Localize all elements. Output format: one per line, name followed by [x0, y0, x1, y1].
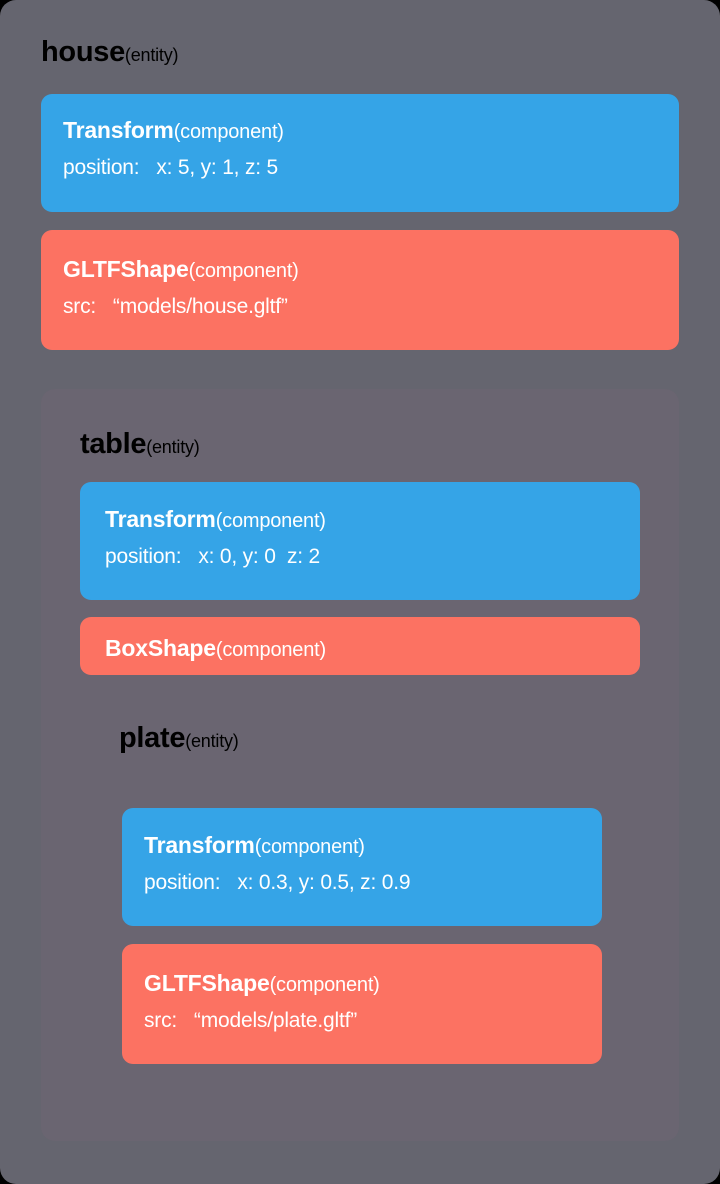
component-header-table-boxshape: BoxShape(component): [105, 637, 326, 660]
component-name-table-boxshape: BoxShape: [105, 635, 216, 661]
entity-kind-house: (entity): [125, 45, 178, 65]
component-property-house-gltfshape-src: src: “models/house.gltf”: [63, 296, 288, 317]
component-header-table-transform: Transform(component): [105, 508, 326, 531]
component-card-plate-gltfshape[interactable]: GLTFShape(component) src: “models/plate.…: [122, 944, 602, 1064]
component-name-house-transform: Transform: [63, 117, 174, 143]
component-kind-table-boxshape: (component): [216, 639, 326, 661]
entity-kind-table: (entity): [146, 437, 199, 457]
component-kind-plate-transform: (component): [255, 836, 365, 858]
component-kind-house-gltfshape: (component): [189, 260, 299, 282]
entity-block-table: table(entity) Transform(component) posit…: [41, 389, 679, 1141]
component-name-house-gltfshape: GLTFShape: [63, 256, 189, 282]
entity-title-table: table(entity): [80, 430, 200, 459]
entity-name-house: house: [41, 36, 125, 68]
component-name-table-transform: Transform: [105, 506, 216, 532]
component-property-plate-gltfshape-src: src: “models/plate.gltf”: [144, 1010, 357, 1031]
entity-name-plate: plate: [119, 722, 185, 754]
component-header-house-gltfshape: GLTFShape(component): [63, 258, 299, 281]
component-property-house-transform-position: position: x: 5, y: 1, z: 5: [63, 157, 278, 178]
entity-name-table: table: [80, 428, 146, 460]
component-card-house-gltfshape[interactable]: GLTFShape(component) src: “models/house.…: [41, 230, 679, 350]
entity-kind-plate: (entity): [185, 731, 238, 751]
component-card-table-boxshape[interactable]: BoxShape(component): [80, 617, 640, 675]
component-name-plate-transform: Transform: [144, 832, 255, 858]
component-card-house-transform[interactable]: Transform(component) position: x: 5, y: …: [41, 94, 679, 212]
component-kind-table-transform: (component): [216, 510, 326, 532]
component-property-plate-transform-position: position: x: 0.3, y: 0.5, z: 0.9: [144, 872, 410, 893]
component-kind-plate-gltfshape: (component): [270, 974, 380, 996]
component-name-plate-gltfshape: GLTFShape: [144, 970, 270, 996]
component-property-table-transform-position: position: x: 0, y: 0 z: 2: [105, 546, 320, 567]
component-header-plate-gltfshape: GLTFShape(component): [144, 972, 380, 995]
entity-block-plate: plate(entity) Transform(component) posit…: [80, 708, 679, 1102]
component-kind-house-transform: (component): [174, 121, 284, 143]
entity-title-house: house(entity): [41, 38, 178, 67]
diagram-canvas: house(entity) Transform(component) posit…: [0, 0, 720, 1184]
component-header-plate-transform: Transform(component): [144, 834, 365, 857]
component-card-table-transform[interactable]: Transform(component) position: x: 0, y: …: [80, 482, 640, 600]
entity-title-plate: plate(entity): [119, 724, 239, 753]
component-header-house-transform: Transform(component): [63, 119, 284, 142]
component-card-plate-transform[interactable]: Transform(component) position: x: 0.3, y…: [122, 808, 602, 926]
